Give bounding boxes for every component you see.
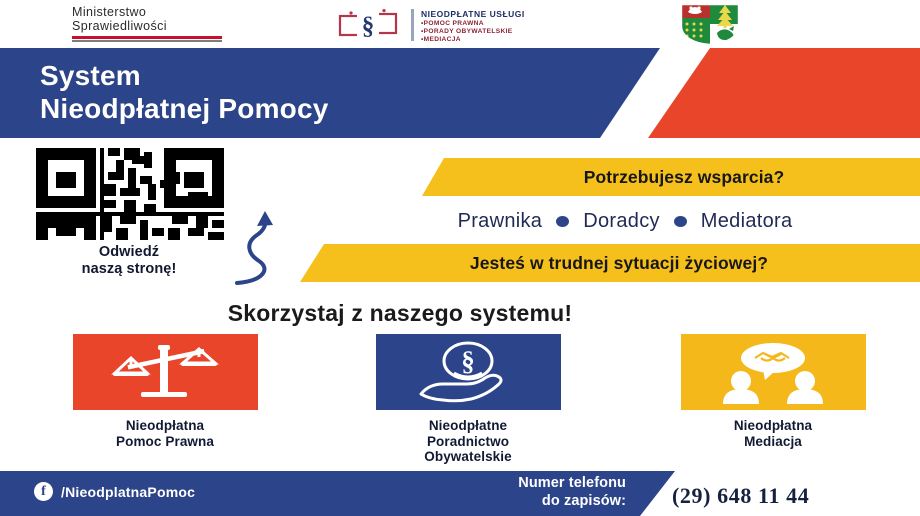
- poster-root: Ministerstwo Sprawiedliwości § NIEODPŁAT…: [0, 0, 920, 516]
- civic-counselling-label-line-2: Poradnictwo: [343, 434, 593, 450]
- mediation-label: Nieodpłatna Mediacja: [648, 418, 898, 449]
- facebook-handle[interactable]: /NieodplatnaPomoc: [61, 484, 195, 500]
- situation-question-banner: Jesteś w trudnej sytuacji życiowej?: [300, 244, 920, 282]
- footer-bar: f /NieodplatnaPomoc Numer telefonu do za…: [0, 471, 920, 516]
- phone-label-line-1: Numer telefonu: [404, 475, 626, 493]
- scales-of-justice-icon: [105, 341, 225, 403]
- hand-holding-paragraph-icon: §: [413, 340, 523, 404]
- nieodplatne-uslugi-logo: § NIEODPŁATNE USŁUGI •POMOC PRAWNA •PORA…: [337, 4, 587, 46]
- banner-title: System Nieodpłatnej Pomocy: [40, 59, 329, 125]
- banner-title-line-1: System: [40, 59, 329, 92]
- facebook-icon[interactable]: f: [34, 482, 53, 501]
- logo-divider: [411, 9, 414, 41]
- legal-aid-label: Nieodpłatna Pomoc Prawna: [40, 418, 290, 449]
- bullet-dot-icon-2: [674, 216, 687, 227]
- header-banner: System Nieodpłatnej Pomocy: [0, 48, 920, 138]
- legal-aid-label-line-1: Nieodpłatna: [40, 418, 290, 434]
- civic-counselling-label: Nieodpłatne Poradnictwo Obywatelskie: [343, 418, 593, 465]
- mediation-label-line-1: Nieodpłatna: [648, 418, 898, 434]
- paragraph-mark-icon: §: [337, 7, 399, 43]
- service-card-civic-counselling[interactable]: § Nieodpłatne Poradnictwo Obywatelskie: [343, 334, 593, 465]
- roles-line: Prawnika Doradcy Mediatora: [330, 204, 920, 238]
- civic-counselling-label-line-1: Nieodpłatne: [343, 418, 593, 434]
- phone-number[interactable]: (29) 648 11 44: [672, 483, 809, 509]
- legal-aid-tile: [73, 334, 258, 410]
- service-cards: Nieodpłatna Pomoc Prawna § Nieodpłatne P…: [0, 334, 920, 464]
- banner-red-shape: [648, 48, 920, 138]
- logo-text-block: NIEODPŁATNE USŁUGI •POMOC PRAWNA •PORADY…: [421, 10, 525, 44]
- bullet-dot-icon: [556, 216, 569, 227]
- svg-text:§: §: [461, 346, 475, 376]
- role-advisor: Doradcy: [583, 210, 660, 233]
- banner-title-line-2: Nieodpłatnej Pomocy: [40, 92, 329, 125]
- ministry-of-justice-logo: Ministerstwo Sprawiedliwości: [72, 6, 242, 42]
- svg-text:§: §: [362, 13, 375, 40]
- logo-item-2: •PORADY OBYWATELSKIE: [421, 28, 525, 36]
- facebook-link[interactable]: f /NieodplatnaPomoc: [34, 482, 195, 501]
- legal-aid-label-line-2: Pomoc Prawna: [40, 434, 290, 450]
- ministry-line-2: Sprawiedliwości: [72, 20, 242, 34]
- ministry-red-rule: [72, 36, 222, 39]
- ministry-line-1: Ministerstwo: [72, 6, 242, 20]
- curved-arrow-icon: [215, 195, 285, 290]
- logo-title: NIEODPŁATNE USŁUGI: [421, 10, 525, 20]
- civic-counselling-label-line-3: Obywatelskie: [343, 449, 593, 465]
- qr-caption-line-1: Odwiedź: [26, 244, 232, 261]
- support-question-text: Potrzebujesz wsparcia?: [422, 167, 920, 188]
- mediation-tile: [681, 334, 866, 410]
- logo-strip: Ministerstwo Sprawiedliwości § NIEODPŁAT…: [0, 0, 920, 48]
- coat-of-arms-icon: [679, 2, 741, 46]
- service-card-legal-aid[interactable]: Nieodpłatna Pomoc Prawna: [40, 334, 290, 449]
- qr-code[interactable]: [36, 148, 224, 240]
- qr-caption-line-2: naszą stronę!: [26, 261, 232, 278]
- cta-headline: Skorzystaj z naszego systemu!: [0, 300, 800, 327]
- role-mediator: Mediatora: [701, 210, 793, 233]
- qr-caption: Odwiedź naszą stronę!: [26, 244, 232, 278]
- mediation-label-line-2: Mediacja: [648, 434, 898, 450]
- mediation-handshake-icon: [715, 340, 831, 404]
- qr-code-image[interactable]: [36, 148, 224, 240]
- service-card-mediation[interactable]: Nieodpłatna Mediacja: [648, 334, 898, 449]
- ministry-grey-rule: [72, 40, 222, 42]
- role-lawyer: Prawnika: [458, 210, 543, 233]
- logo-item-1: •POMOC PRAWNA: [421, 20, 525, 28]
- support-question-banner: Potrzebujesz wsparcia?: [422, 158, 920, 196]
- situation-question-text: Jesteś w trudnej sytuacji życiowej?: [300, 253, 920, 274]
- phone-label-line-2: do zapisów:: [404, 493, 626, 511]
- civic-counselling-tile: §: [376, 334, 561, 410]
- logo-item-3: •MEDIACJA: [421, 36, 525, 44]
- phone-label: Numer telefonu do zapisów:: [404, 475, 626, 510]
